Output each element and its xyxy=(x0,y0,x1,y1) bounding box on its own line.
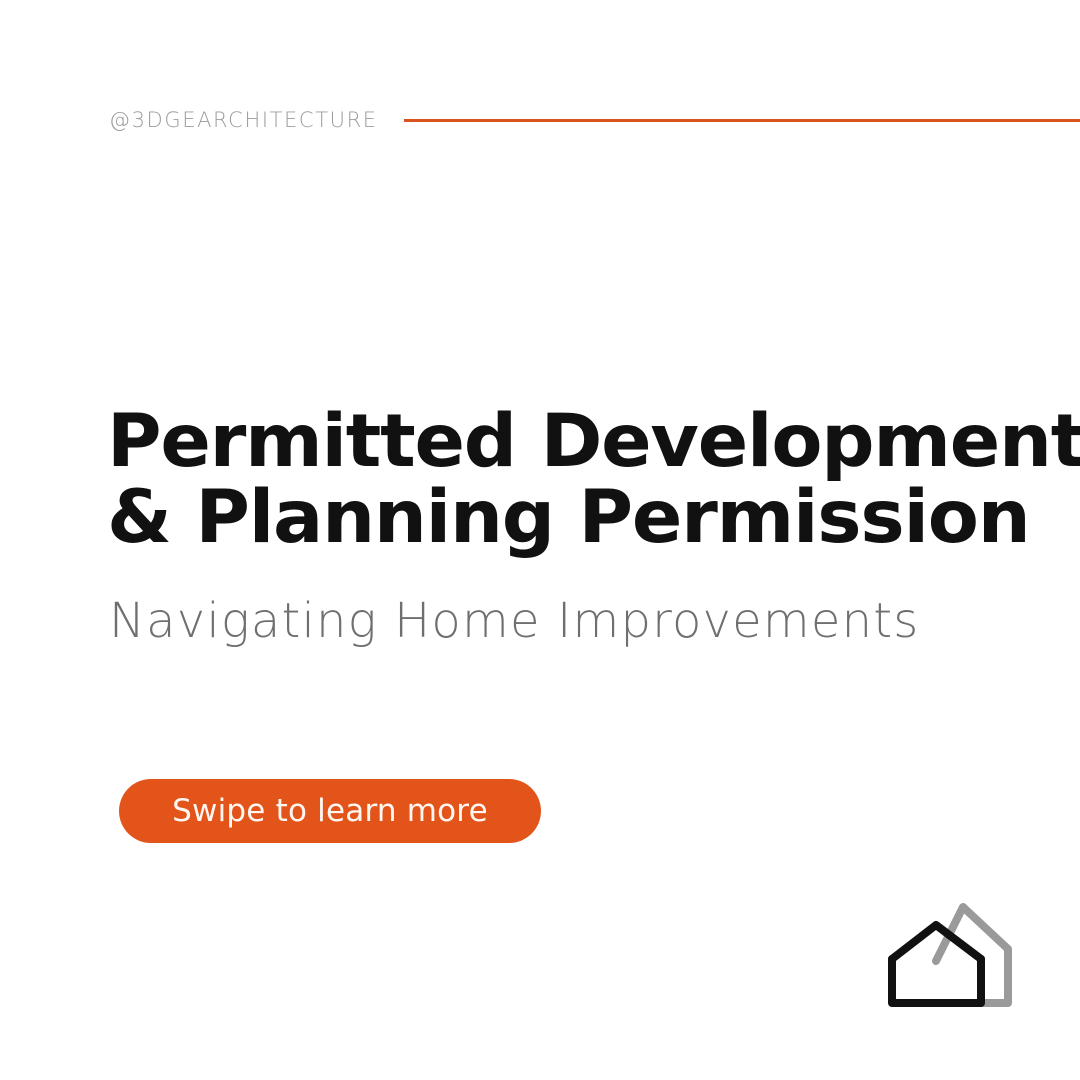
swipe-to-learn-more-button[interactable]: Swipe to learn more xyxy=(119,779,541,843)
headline-line-1: Permitted Development xyxy=(107,404,1025,480)
double-house-outline-icon xyxy=(875,893,1025,1018)
page-subtitle: Navigating Home Improvements xyxy=(109,592,919,650)
brand-handle: @3DGEARCHITECTURE xyxy=(109,110,378,131)
page-title: Permitted Development & Planning Permiss… xyxy=(107,404,1007,556)
headline-line-2: & Planning Permission xyxy=(107,480,1025,556)
header-accent-rule xyxy=(404,119,1080,122)
header: @3DGEARCHITECTURE xyxy=(0,100,1080,140)
social-carousel-slide: @3DGEARCHITECTURE Permitted Development … xyxy=(0,0,1080,1080)
house-logo-svg xyxy=(875,893,1025,1018)
